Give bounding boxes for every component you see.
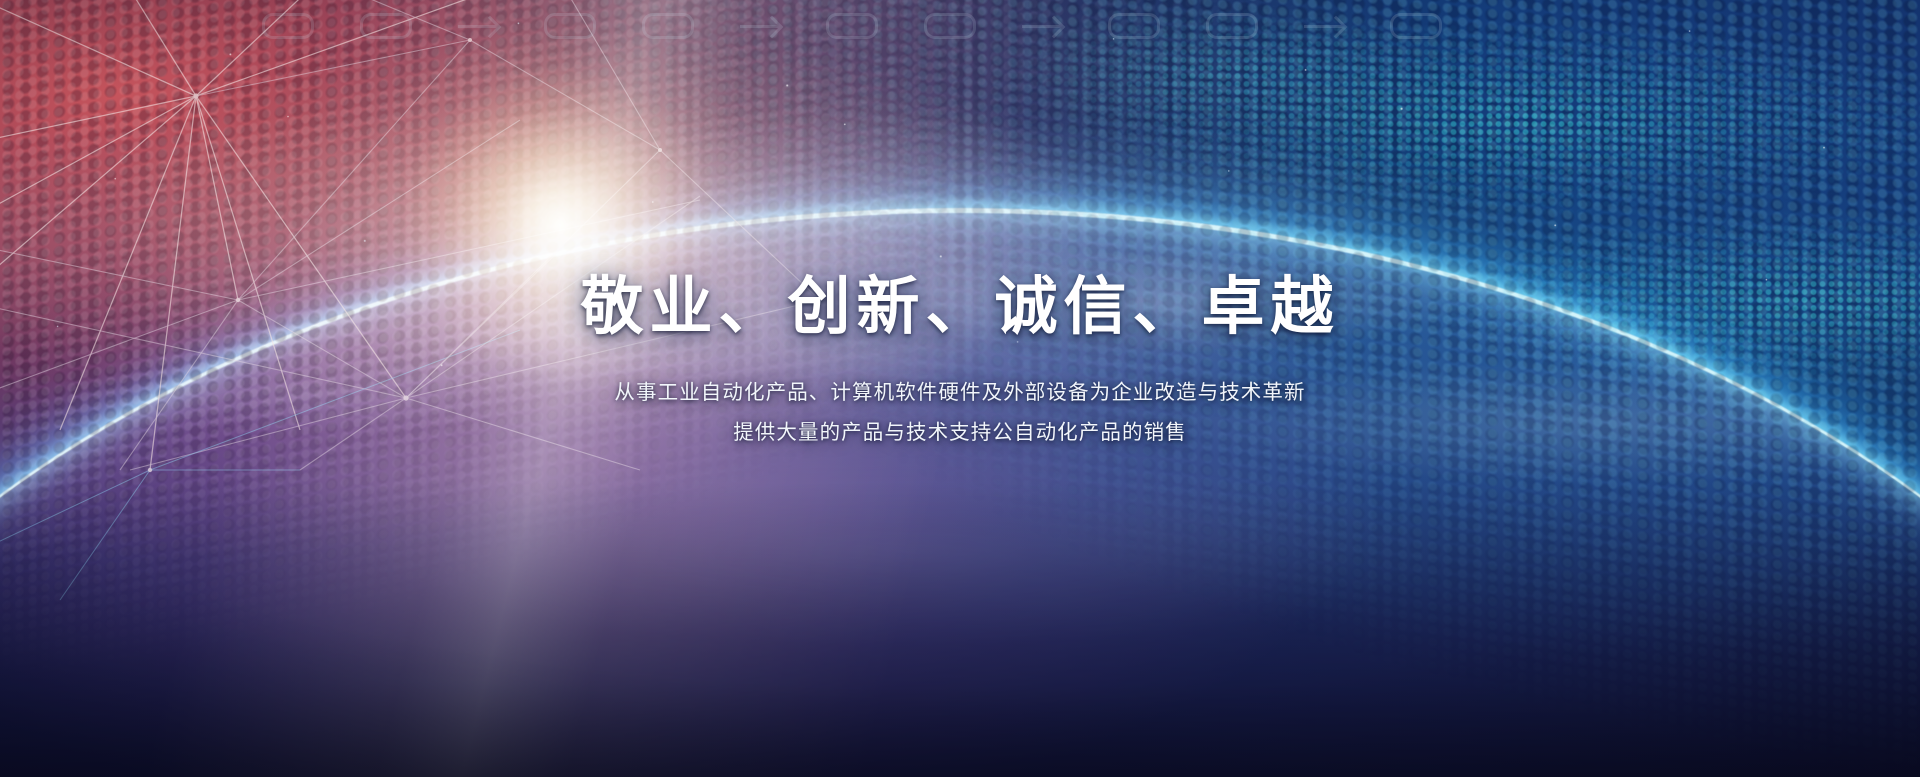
banner-content: 敬业、创新、诚信、卓越 从事工业自动化产品、计算机软件硬件及外部设备为企业改造与… <box>0 0 1920 777</box>
banner-subtitle-line-1: 从事工业自动化产品、计算机软件硬件及外部设备为企业改造与技术革新 <box>614 373 1305 413</box>
banner-subtitle: 从事工业自动化产品、计算机软件硬件及外部设备为企业改造与技术革新 提供大量的产品… <box>614 373 1305 453</box>
hero-banner: 敬业、创新、诚信、卓越 从事工业自动化产品、计算机软件硬件及外部设备为企业改造与… <box>0 0 1920 777</box>
banner-subtitle-line-2: 提供大量的产品与技术支持公自动化产品的销售 <box>614 413 1305 453</box>
banner-headline: 敬业、创新、诚信、卓越 <box>581 272 1340 343</box>
